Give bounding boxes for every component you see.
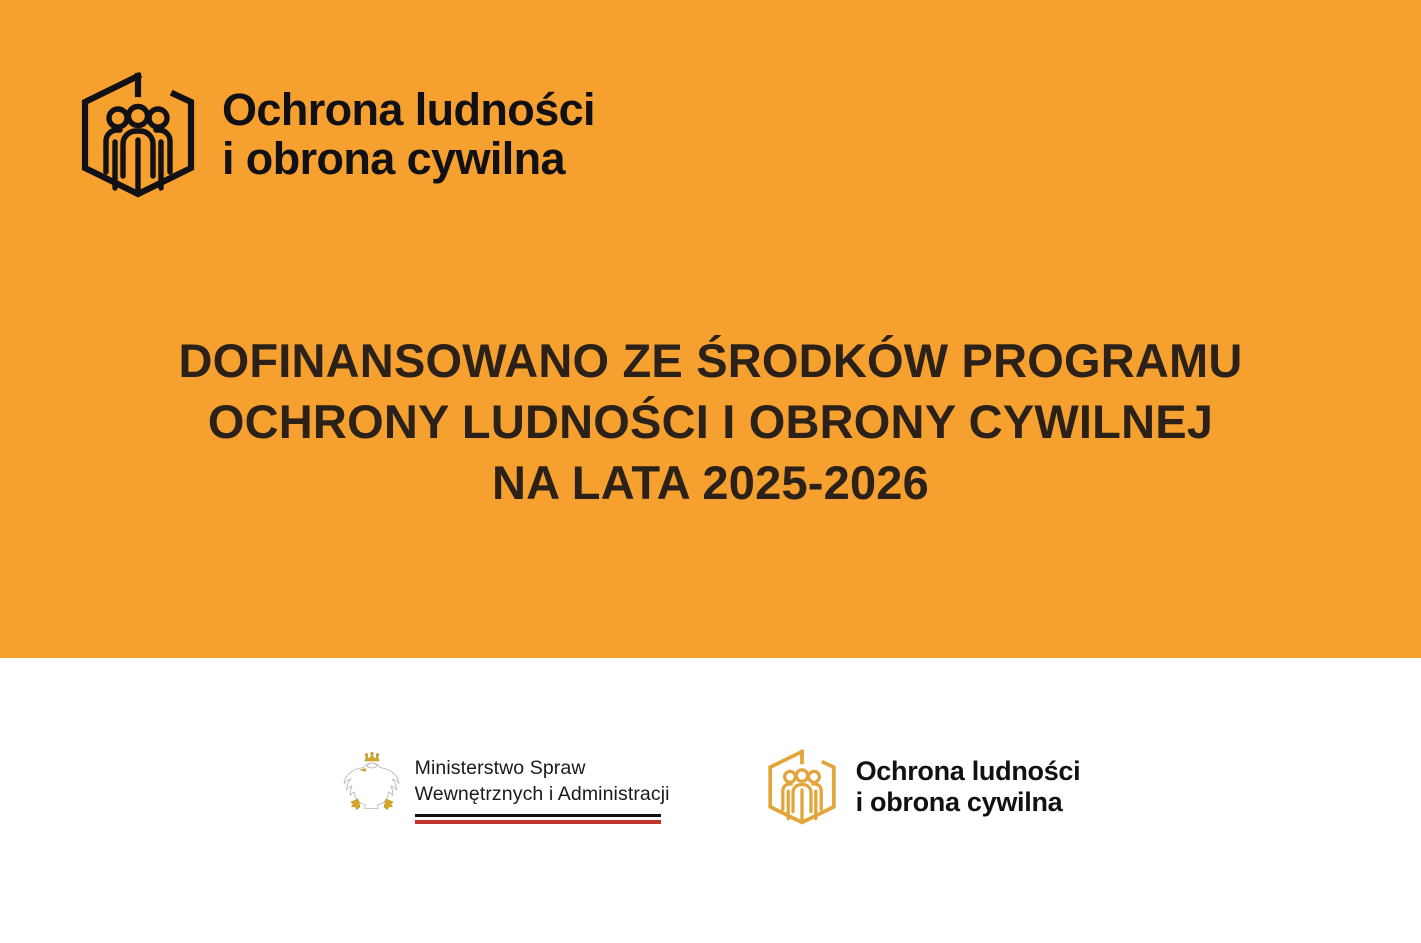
civil-protection-shield-icon — [78, 72, 198, 198]
hero-section: Ochrona ludności i obrona cywilna DOFINA… — [0, 0, 1421, 658]
ministry-name-line-2: Wewnętrznych i Administracji — [415, 782, 670, 807]
footer-brand-lockup: Ochrona ludności i obrona cywilna — [766, 749, 1081, 825]
ministry-name-block: Ministerstwo Spraw Wewnętrznych i Admini… — [415, 749, 670, 824]
hero-brand-wordmark: Ochrona ludności i obrona cywilna — [222, 86, 595, 183]
civil-protection-shield-icon — [766, 749, 838, 825]
funding-acknowledgement-banner: Ochrona ludności i obrona cywilna DOFINA… — [0, 0, 1421, 943]
hero-brand-lockup: Ochrona ludności i obrona cywilna — [78, 72, 595, 198]
ministry-lockup: Ministerstwo Spraw Wewnętrznych i Admini… — [341, 749, 670, 824]
polish-eagle-emblem-icon — [341, 749, 403, 823]
ministry-rule-group — [415, 814, 661, 824]
headline-line-1: DOFINANSOWANO ZE ŚRODKÓW PROGRAMU — [0, 330, 1421, 391]
footer-logo-strip: Ministerstwo Spraw Wewnętrznych i Admini… — [0, 658, 1421, 943]
headline-line-2: OCHRONY LUDNOŚCI I OBRONY CYWILNEJ — [0, 391, 1421, 452]
ministry-name-line-1: Ministerstwo Spraw — [415, 756, 670, 781]
headline: DOFINANSOWANO ZE ŚRODKÓW PROGRAMU OCHRON… — [0, 330, 1421, 513]
footer-brand-wordmark: Ochrona ludności i obrona cywilna — [856, 756, 1081, 816]
headline-line-3: NA LATA 2025-2026 — [0, 452, 1421, 513]
rule-red — [415, 820, 661, 824]
